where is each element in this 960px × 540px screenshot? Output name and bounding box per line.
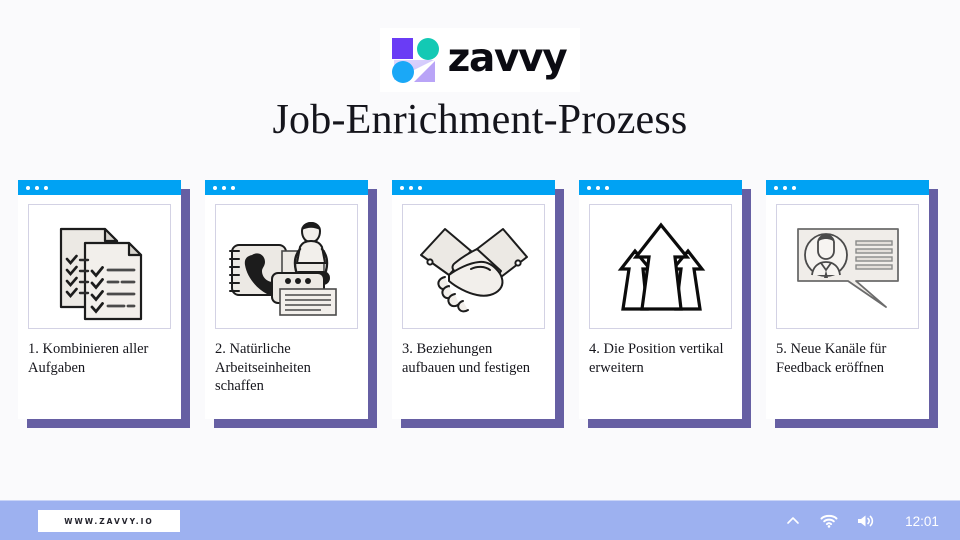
card-body: 4. Die Position vertikal erweitern — [579, 195, 742, 419]
handshake-icon — [402, 204, 545, 329]
card-label: 3. Beziehungen aufbauen und festigen — [402, 340, 545, 377]
card-window[interactable]: 4. Die Position vertikal erweitern — [579, 180, 742, 419]
process-card-1[interactable]: 1. Kombinieren aller Aufgaben — [18, 180, 190, 428]
checklist-documents-icon — [28, 204, 171, 329]
card-title-bar — [205, 180, 368, 195]
card-label: 5. Neue Kanäle für Feedback eröffnen — [776, 340, 919, 377]
website-url-label: WWW.ZAVVY.IO — [64, 517, 154, 526]
window-dot-icon — [213, 186, 217, 190]
card-title-bar — [579, 180, 742, 195]
card-window[interactable]: 2. Natürliche Arbeitseinheiten schaffen — [205, 180, 368, 419]
window-dot-icon — [231, 186, 235, 190]
card-title-bar — [392, 180, 555, 195]
window-dot-icon — [774, 186, 778, 190]
system-tray: 12:01 — [784, 501, 946, 540]
taskbar: WWW.ZAVVY.IO 12:01 — [0, 500, 960, 540]
website-url-chip[interactable]: WWW.ZAVVY.IO — [38, 510, 180, 532]
window-dot-icon — [222, 186, 226, 190]
card-body: 3. Beziehungen aufbauen und festigen — [392, 195, 555, 419]
card-title-bar — [766, 180, 929, 195]
clock[interactable]: 12:01 — [904, 514, 940, 529]
window-dot-icon — [44, 186, 48, 190]
window-dot-icon — [409, 186, 413, 190]
card-body: 2. Natürliche Arbeitseinheiten schaffen — [205, 195, 368, 419]
speech-bubble-avatar-icon — [776, 204, 919, 329]
card-window[interactable]: 5. Neue Kanäle für Feedback eröffnen — [766, 180, 929, 419]
card-body: 1. Kombinieren aller Aufgaben — [18, 195, 181, 419]
card-label: 2. Natürliche Arbeitseinheiten schaffen — [215, 340, 358, 396]
window-dot-icon — [792, 186, 796, 190]
logo-wordmark: zavvy — [448, 39, 567, 81]
process-card-4[interactable]: 4. Die Position vertikal erweitern — [579, 180, 751, 428]
slide-canvas: zavvy Job-Enrichment-Prozess — [0, 0, 960, 500]
card-title-bar — [18, 180, 181, 195]
process-card-5[interactable]: 5. Neue Kanäle für Feedback eröffnen — [766, 180, 938, 428]
window-dot-icon — [418, 186, 422, 190]
zavvy-z-mark-icon — [388, 34, 440, 86]
page-title: Job-Enrichment-Prozess — [0, 96, 960, 144]
window-dot-icon — [35, 186, 39, 190]
card-window[interactable]: 3. Beziehungen aufbauen und festigen — [392, 180, 555, 419]
process-card-2[interactable]: 2. Natürliche Arbeitseinheiten schaffen — [205, 180, 377, 428]
volume-icon[interactable] — [856, 512, 874, 530]
window-dot-icon — [783, 186, 787, 190]
window-dot-icon — [26, 186, 30, 190]
person-at-desk-phone-notebook-icon — [215, 204, 358, 329]
window-dot-icon — [596, 186, 600, 190]
process-card-row: 1. Kombinieren aller Aufgaben — [18, 180, 948, 428]
brand-logo: zavvy — [0, 28, 960, 92]
card-body: 5. Neue Kanäle für Feedback eröffnen — [766, 195, 929, 419]
three-upward-arrows-icon — [589, 204, 732, 329]
card-window[interactable]: 1. Kombinieren aller Aufgaben — [18, 180, 181, 419]
chevron-up-icon[interactable] — [784, 512, 802, 530]
card-label: 1. Kombinieren aller Aufgaben — [28, 340, 171, 377]
window-dot-icon — [605, 186, 609, 190]
process-card-3[interactable]: 3. Beziehungen aufbauen und festigen — [392, 180, 564, 428]
logo-container: zavvy — [380, 28, 581, 92]
window-dot-icon — [587, 186, 591, 190]
wifi-icon[interactable] — [820, 512, 838, 530]
window-dot-icon — [400, 186, 404, 190]
card-label: 4. Die Position vertikal erweitern — [589, 340, 732, 377]
